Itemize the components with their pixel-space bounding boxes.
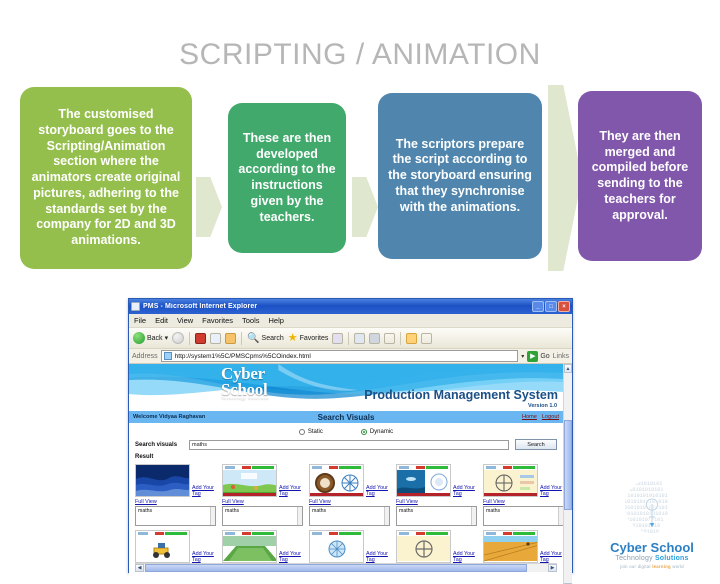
add-tag-link[interactable]: Add Your Tag	[540, 485, 563, 497]
corner-logo-name: Cyber School	[592, 540, 712, 555]
page-viewport: Cyber School Technology Solutions Produc…	[129, 364, 572, 584]
scroll-up-icon[interactable]: ▲	[564, 364, 572, 373]
thumb-header-bar	[310, 531, 363, 536]
thumb-header-bar	[397, 465, 450, 470]
window-controls: _ □ ×	[532, 301, 570, 312]
flow-step-4-text: They are then merged and compiled before…	[588, 129, 692, 224]
site-logo: Cyber School Technology Solutions	[221, 366, 269, 401]
ie-app-icon	[131, 302, 140, 311]
thumb-row: Add Your Tag	[135, 464, 216, 497]
blue-circle-thumb[interactable]	[309, 530, 364, 563]
flow-step-2-text: These are then developed according to th…	[238, 131, 336, 226]
result-cell: Add Your Tag	[222, 530, 303, 563]
add-tag-link[interactable]: Add Your Tag	[453, 485, 477, 497]
field-perspective-thumb[interactable]	[222, 530, 277, 563]
stop-icon[interactable]	[195, 333, 206, 344]
tag-textarea[interactable]: maths	[135, 506, 216, 526]
go-button[interactable]: ▶ Go	[527, 351, 549, 362]
textarea-scroll[interactable]	[210, 507, 215, 525]
mail-icon[interactable]	[354, 333, 365, 344]
orange-field-thumb[interactable]	[483, 530, 538, 563]
close-button[interactable]: ×	[558, 301, 570, 312]
thumb-header-bar	[484, 465, 537, 470]
window-title: PMS - Microsoft Internet Explorer	[143, 303, 532, 310]
maximize-button[interactable]: □	[545, 301, 557, 312]
diagram-yellow-thumb[interactable]	[483, 464, 538, 497]
discuss-icon[interactable]	[421, 333, 432, 344]
tag-value: maths	[486, 508, 500, 514]
address-input[interactable]: http://system1%5C/PMSCpms%5COindex.html	[161, 350, 519, 362]
site-logo-line2: School	[221, 382, 269, 398]
search-icon: 🔍	[247, 333, 259, 344]
ocean-waves-thumb[interactable]	[135, 464, 190, 497]
thumb-row: Add Your Tag	[309, 464, 390, 497]
underwater-thumb[interactable]	[396, 464, 451, 497]
radio-dynamic-label: Dynamic	[370, 429, 393, 435]
tag-value: maths	[399, 508, 413, 514]
add-tag-link[interactable]: Add Your Tag	[453, 551, 477, 563]
corner-logo-sub-plain: Technology	[615, 555, 655, 562]
menu-item-file[interactable]: File	[134, 316, 146, 325]
result-cell: Add Your Tag Full View maths	[222, 464, 303, 526]
thumb-header-bar	[397, 531, 450, 536]
radio-static-label: Static	[308, 429, 323, 435]
binary-sphere-svg: 010101010101 1010101010101 1010101010101…	[621, 477, 683, 539]
thumb-header-bar	[223, 531, 276, 536]
flow-step-1: The customised storyboard goes to the Sc…	[20, 87, 192, 269]
corner-logo-subtitle: Technology Solutions	[592, 555, 712, 562]
site-header: Cyber School Technology Solutions Produc…	[129, 364, 563, 411]
radio-dynamic-icon	[361, 429, 367, 435]
scroll-left-icon[interactable]: ◀	[135, 564, 144, 572]
add-tag-link[interactable]: Add Your Tag	[192, 551, 216, 563]
favorites-toolbar-button[interactable]: ★ Favorites	[288, 333, 329, 344]
page-title: SCRIPTING / ANIMATION	[0, 38, 720, 72]
thumb-row: Add Your Tag	[483, 464, 563, 497]
thumb-row: Add Your Tag	[309, 530, 390, 563]
hscroll-thumb[interactable]	[145, 564, 527, 572]
back-button[interactable]: Back ▾	[133, 332, 168, 344]
radio-dynamic[interactable]: Dynamic	[361, 429, 393, 435]
search-mode-group: Static Dynamic	[135, 429, 557, 435]
process-flow-diagram: The customised storyboard goes to the Sc…	[0, 85, 720, 275]
add-tag-link[interactable]: Add Your Tag	[192, 485, 216, 497]
radio-static[interactable]: Static	[299, 429, 323, 435]
refresh-icon[interactable]	[210, 333, 221, 344]
full-view-link[interactable]: Full View	[483, 499, 563, 505]
thumb-row: Add Your Tag	[483, 530, 563, 563]
welcome-bar: Welcome Vidyaa Raghavan Search Visuals H…	[129, 411, 563, 423]
add-tag-link[interactable]: Add Your Tag	[540, 551, 563, 563]
star-icon: ★	[288, 333, 298, 344]
flow-step-2: These are then developed according to th…	[228, 103, 346, 253]
flow-step-3-text: The scriptors prepare the script accordi…	[388, 137, 532, 216]
toolbar-separator-2	[241, 332, 242, 345]
tag-textarea[interactable]: maths	[396, 506, 477, 526]
tag-textarea[interactable]: maths	[309, 506, 390, 526]
result-cell: Add Your Tag Full View maths	[396, 464, 477, 526]
app-title: Production Management System	[364, 388, 558, 402]
browser-titlebar: PMS - Microsoft Internet Explorer _ □ ×	[129, 299, 572, 314]
page-content-column: Cyber School Technology Solutions Produc…	[129, 364, 563, 584]
thumb-footer-bar	[397, 493, 450, 496]
home-icon[interactable]	[225, 333, 236, 344]
result-cell: Add Your Tag	[309, 530, 390, 563]
menu-item-edit[interactable]: Edit	[155, 316, 168, 325]
thumb-header-bar	[223, 465, 276, 470]
flow-step-4: They are then merged and compiled before…	[578, 91, 702, 261]
search-button[interactable]: Search	[515, 439, 557, 450]
corner-logo-sub-accent: Solutions	[655, 555, 689, 562]
header-links: Home Logout	[522, 414, 559, 420]
search-field-label: Search visuals	[135, 442, 183, 448]
search-row: Search visuals maths Search	[135, 439, 557, 450]
menu-item-help[interactable]: Help	[269, 316, 284, 325]
favorites-toolbar-label: Favorites	[300, 335, 329, 342]
full-view-link[interactable]: Full View	[396, 499, 477, 505]
thumb-row: Add Your Tag	[396, 530, 477, 563]
radio-static-icon	[299, 429, 305, 435]
flow-step-3: The scriptors prepare the script accordi…	[378, 93, 542, 259]
add-tag-link[interactable]: Add Your Tag	[279, 485, 303, 497]
search-input[interactable]: maths	[189, 440, 509, 450]
go-arrow-icon: ▶	[527, 351, 538, 362]
tag-value: maths	[312, 508, 326, 514]
green-field-thumb[interactable]	[222, 464, 277, 497]
toolbar-separator-1	[189, 332, 190, 345]
go-label: Go	[540, 353, 549, 360]
flow-step-1-text: The customised storyboard goes to the Sc…	[30, 107, 182, 249]
folder-icon[interactable]	[406, 333, 417, 344]
app-version: Version 1.0	[528, 403, 557, 409]
textarea-scroll[interactable]	[384, 507, 389, 525]
thumb-header-bar	[136, 531, 189, 536]
result-cell: Add Your Tag	[135, 530, 216, 563]
forward-button[interactable]	[172, 332, 184, 344]
result-row-2: Add Your Tag	[135, 530, 557, 563]
browser-window: PMS - Microsoft Internet Explorer _ □ × …	[128, 298, 573, 573]
textarea-scroll[interactable]	[471, 507, 476, 525]
page-horizontal-scrollbar[interactable]: ◀ ▶	[135, 563, 557, 572]
compass-ring-thumb[interactable]	[396, 530, 451, 563]
logout-link[interactable]: Logout	[542, 414, 559, 420]
address-dropdown-icon[interactable]: ▾	[521, 353, 524, 360]
vscroll-thumb[interactable]	[564, 420, 572, 510]
page-vertical-scrollbar[interactable]: ▲ ▼	[563, 364, 572, 584]
roller-vehicle-thumb[interactable]	[135, 530, 190, 563]
result-cell: Add Your Tag Full View maths	[309, 464, 390, 526]
browser-toolbar: Back ▾ 🔍 Search ★ Favorites	[129, 328, 572, 349]
scroll-right-icon[interactable]: ▶	[548, 564, 557, 572]
result-row-1: Add Your Tag Full View maths	[135, 464, 557, 526]
corner-tagline-accent: learning	[652, 564, 671, 569]
back-label: Back	[147, 335, 163, 342]
media-icon[interactable]	[332, 333, 343, 344]
page-body: Static Dynamic Search visuals maths Sear…	[129, 423, 563, 576]
thumb-footer-bar	[484, 493, 537, 496]
clock-compass-thumb[interactable]	[309, 464, 364, 497]
tag-textarea[interactable]: maths	[222, 506, 303, 526]
tag-value: maths	[138, 508, 152, 514]
toolbar-separator-3	[348, 332, 349, 345]
result-cell: Add Your Tag	[396, 530, 477, 563]
add-tag-link[interactable]: Add Your Tag	[366, 485, 390, 497]
flow-connector-3-icon	[548, 85, 582, 271]
back-arrow-icon	[133, 332, 145, 344]
svg-text:010101010: 010101010	[631, 529, 659, 535]
thumb-footer-bar	[223, 493, 276, 496]
search-toolbar-label: Search	[262, 335, 284, 342]
result-label: Result	[135, 454, 557, 460]
thumb-row: Add Your Tag	[396, 464, 477, 497]
thumb-art	[136, 465, 190, 497]
tag-textarea[interactable]: maths	[483, 506, 563, 526]
address-label: Address	[132, 353, 158, 360]
minimize-button[interactable]: _	[532, 301, 544, 312]
print-icon[interactable]	[369, 333, 380, 344]
back-dropdown-icon[interactable]: ▾	[165, 334, 169, 342]
textarea-scroll[interactable]	[297, 507, 302, 525]
thumb-row: Add Your Tag	[222, 530, 303, 563]
binary-sphere-keyhole-icon: 010101010101 1010101010101 1010101010101…	[621, 477, 683, 539]
tag-value: maths	[225, 508, 239, 514]
page-icon	[164, 352, 172, 360]
thumb-footer-bar	[310, 493, 363, 496]
menu-item-tools[interactable]: Tools	[242, 316, 260, 325]
home-link[interactable]: Home	[522, 414, 537, 420]
corner-brand-logo: 010101010101 1010101010101 1010101010101…	[592, 477, 712, 569]
search-toolbar-button[interactable]: 🔍 Search	[247, 333, 284, 344]
full-view-link[interactable]: Full View	[309, 499, 390, 505]
add-tag-link[interactable]: Add Your Tag	[279, 551, 303, 563]
corner-tagline-b: world	[671, 564, 684, 569]
thumb-row: Add Your Tag	[135, 530, 216, 563]
corner-logo-tagline: join our digital learning world	[592, 564, 712, 569]
thumb-header-bar	[484, 531, 537, 536]
edit-icon[interactable]	[384, 333, 395, 344]
address-url: http://system1%5C/PMSCpms%5COindex.html	[175, 353, 311, 360]
add-tag-link[interactable]: Add Your Tag	[366, 551, 390, 563]
menu-item-view[interactable]: View	[177, 316, 193, 325]
thumb-header-bar	[310, 465, 363, 470]
full-view-link[interactable]: Full View	[135, 499, 216, 505]
result-cell: Add Your Tag Full View maths	[135, 464, 216, 526]
flow-connector-1-icon	[196, 177, 222, 237]
toolbar-separator-4	[400, 332, 401, 345]
corner-tagline-a: join our digital	[620, 564, 652, 569]
menu-item-favorites[interactable]: Favorites	[202, 316, 233, 325]
section-title: Search Visuals	[129, 413, 563, 422]
slide-root: SCRIPTING / ANIMATION The customised sto…	[0, 0, 720, 584]
result-cell: Add Your Tag	[483, 530, 563, 563]
browser-addressbar: Address http://system1%5C/PMSCpms%5COind…	[129, 349, 572, 364]
site-logo-tagline: Technology Solutions	[221, 397, 269, 400]
browser-menubar: File Edit View Favorites Tools Help	[129, 314, 572, 328]
flow-connector-2-icon	[352, 177, 378, 237]
full-view-link[interactable]: Full View	[222, 499, 303, 505]
links-label[interactable]: Links	[553, 353, 569, 360]
thumb-row: Add Your Tag	[222, 464, 303, 497]
result-cell: Add Your Tag Full View maths	[483, 464, 563, 526]
